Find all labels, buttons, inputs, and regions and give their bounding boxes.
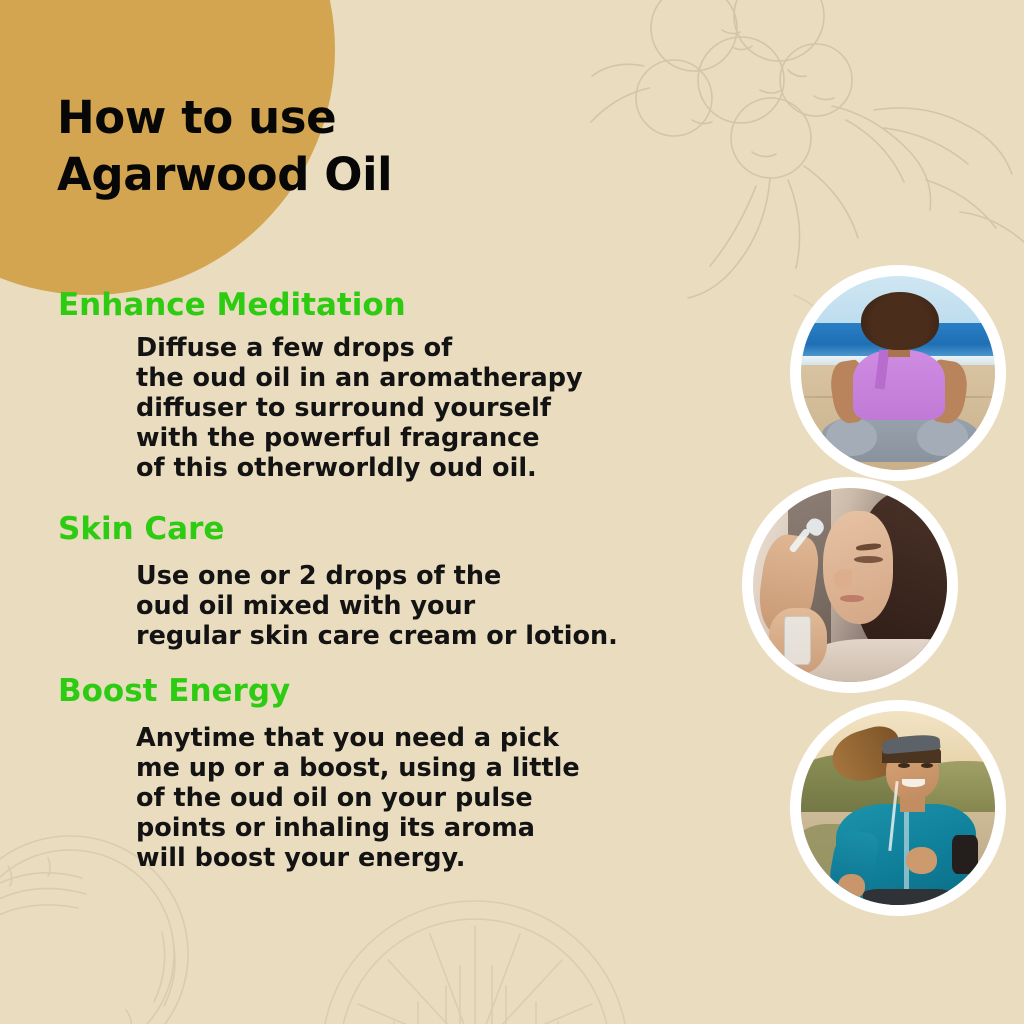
page-title: How to use Agarwood Oil [57,89,617,203]
scene-outdoor-jogging [801,711,995,905]
photo-skin-care-image [753,488,947,682]
poster-canvas: How to use Agarwood Oil Enhance Meditati… [0,0,1024,1024]
photo-meditation-beach [790,265,1006,481]
photo-boost-energy-jogging [790,700,1006,916]
page-title-line-2: Agarwood Oil [57,146,617,203]
scene-serum-application [753,488,947,682]
section-body-boost-energy: Anytime that you need a pick me up or a … [0,723,740,873]
section-skin-care: Skin Care Use one or 2 drops of the oud … [0,509,740,651]
photo-meditation-image [801,276,995,470]
photo-skin-care-serum [742,477,958,693]
section-boost-energy: Boost Energy Anytime that you need a pic… [0,671,740,873]
section-heading-enhance-meditation: Enhance Meditation [0,285,740,325]
usage-sections-list: Enhance Meditation Diffuse a few drops o… [0,285,740,877]
section-body-enhance-meditation: Diffuse a few drops of the oud oil in an… [0,333,740,483]
page-title-line-1: How to use [57,89,617,146]
scene-beach-meditation [801,276,995,470]
section-heading-skin-care: Skin Care [0,509,740,549]
section-enhance-meditation: Enhance Meditation Diffuse a few drops o… [0,285,740,483]
photo-circle-stack [764,0,1024,1024]
section-body-skin-care: Use one or 2 drops of the oud oil mixed … [0,561,740,651]
section-heading-boost-energy: Boost Energy [0,671,740,711]
photo-boost-energy-image [801,711,995,905]
